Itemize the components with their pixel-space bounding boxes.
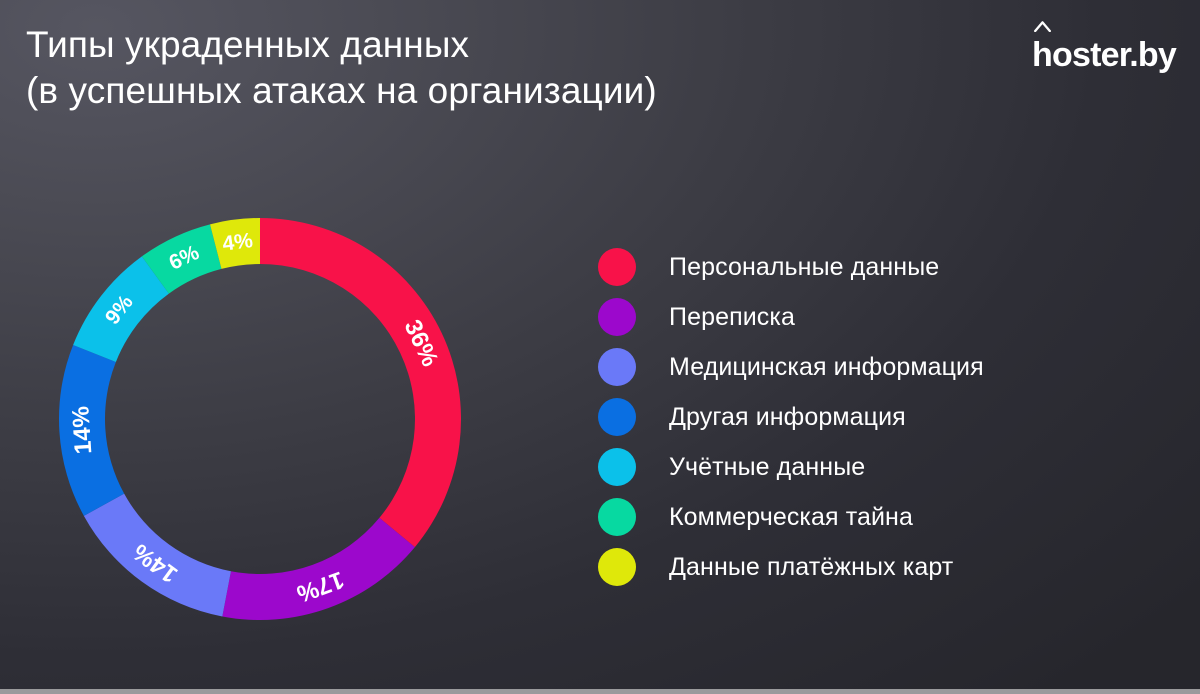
legend-item-trade-secret[interactable]: Коммерческая тайна <box>598 492 984 542</box>
logo-mark: hoster.by <box>1032 38 1176 72</box>
legend-item-medical-info[interactable]: Медицинская информация <box>598 342 984 392</box>
legend-swatch-icon <box>598 498 636 536</box>
brand-logo[interactable]: hoster.by <box>1032 38 1176 82</box>
legend-item-personal-data[interactable]: Персональные данные <box>598 242 984 292</box>
donut-chart: 36%17%14%14%9%6%4% <box>59 218 461 620</box>
legend-label: Учётные данные <box>669 453 865 481</box>
legend-item-other-info[interactable]: Другая информация <box>598 392 984 442</box>
donut-slice-value-label: 14% <box>67 405 97 455</box>
legend-swatch-icon <box>598 448 636 486</box>
title-line-2: (в успешных атаках на организации) <box>26 68 657 114</box>
page-title: Типы украденных данных (в успешных атака… <box>26 22 657 114</box>
donut-slice-value-label: 4% <box>221 229 254 256</box>
legend-swatch-icon <box>598 548 636 586</box>
legend-label: Другая информация <box>669 403 906 431</box>
legend-label: Медицинская информация <box>669 353 984 381</box>
legend-label: Данные платёжных карт <box>669 553 953 581</box>
legend-label: Коммерческая тайна <box>669 503 913 531</box>
chart-legend: Персональные данные Переписка Медицинска… <box>598 242 984 592</box>
legend-swatch-icon <box>598 348 636 386</box>
legend-swatch-icon <box>598 298 636 336</box>
donut-slice[interactable] <box>260 218 461 547</box>
legend-item-credentials[interactable]: Учётные данные <box>598 442 984 492</box>
legend-item-payment-cards[interactable]: Данные платёжных карт <box>598 542 984 592</box>
legend-swatch-icon <box>598 248 636 286</box>
legend-label: Переписка <box>669 303 795 331</box>
infographic-slide: Типы украденных данных (в успешных атака… <box>0 0 1200 694</box>
donut-chart-svg: 36%17%14%14%9%6%4% <box>59 218 461 620</box>
legend-item-correspondence[interactable]: Переписка <box>598 292 984 342</box>
legend-swatch-icon <box>598 398 636 436</box>
donut-slice[interactable] <box>222 518 415 620</box>
house-roof-icon <box>1034 21 1051 32</box>
logo-text: hoster.by <box>1032 36 1176 74</box>
title-line-1: Типы украденных данных <box>26 22 657 68</box>
donut-slice-group <box>59 218 461 620</box>
legend-label: Персональные данные <box>669 253 939 281</box>
